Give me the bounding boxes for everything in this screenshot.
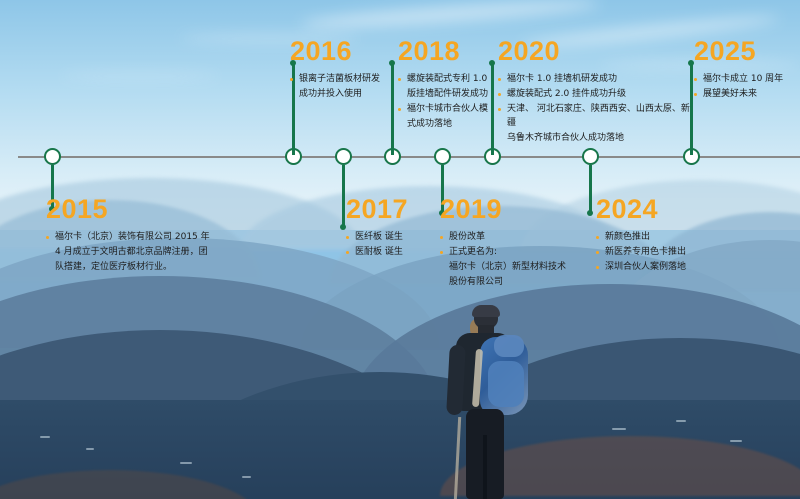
bullet-item: 成功并投入使用: [290, 87, 400, 101]
bullet-list-2017: 医纤板 诞生医耐板 诞生: [346, 230, 446, 259]
bullet-item: 新医养专用色卡推出: [596, 245, 736, 259]
timeline-node-2015[interactable]: [44, 148, 61, 165]
timeline-item-2018[interactable]: 2018螺旋装配式专利 1.0版挂墙配件研发成功福尔卡城市合伙人模式成功落地: [398, 38, 502, 132]
bullet-item: 股份改革: [440, 230, 590, 244]
terrain-detail: [612, 428, 626, 430]
bullet-item: 福尔卡（北京）新型材料技术: [440, 260, 590, 274]
bullet-item: 医耐板 诞生: [346, 245, 446, 259]
year-label-2016: 2016: [290, 38, 400, 65]
bullet-list-2020: 福尔卡 1.0 挂墙机研发成功螺旋装配式 2.0 挂件成功升级天津、 河北石家庄…: [498, 72, 698, 145]
bullet-item: 式成功落地: [398, 117, 502, 131]
timeline-item-2020[interactable]: 2020福尔卡 1.0 挂墙机研发成功螺旋装配式 2.0 挂件成功升级天津、 河…: [498, 38, 698, 146]
bullet-item: 福尔卡（北京）装饰有限公司 2015 年: [46, 230, 231, 244]
timeline-item-2017[interactable]: 2017医纤板 诞生医耐板 诞生: [346, 196, 446, 260]
bullet-item: 乌鲁木齐城市合伙人成功落地: [498, 131, 698, 145]
year-label-2015: 2015: [46, 196, 231, 223]
bullet-list-2025: 福尔卡成立 10 周年展望美好未来: [694, 72, 800, 101]
year-label-2017: 2017: [346, 196, 446, 223]
bullet-item: 银离子洁菌板材研发: [290, 72, 400, 86]
backpack-body: [488, 361, 524, 407]
timeline-stem-2025: [690, 63, 693, 155]
bullet-item: 深圳合伙人案例落地: [596, 260, 736, 274]
hiker-leg-gap: [483, 435, 487, 499]
bullet-item: 福尔卡成立 10 周年: [694, 72, 800, 86]
timeline-item-2025[interactable]: 2025福尔卡成立 10 周年展望美好未来: [694, 38, 800, 102]
bullet-item: 正式更名为:: [440, 245, 590, 259]
terrain-detail: [676, 420, 686, 422]
bullet-item: 展望美好未来: [694, 87, 800, 101]
bullet-list-2019: 股份改革正式更名为:福尔卡（北京）新型材料技术股份有限公司: [440, 230, 590, 289]
year-label-2019: 2019: [440, 196, 590, 223]
timeline-item-2024[interactable]: 2024新颜色推出新医养专用色卡推出深圳合伙人案例落地: [596, 196, 736, 275]
timeline-stem-2018: [391, 63, 394, 155]
bullet-list-2015: 福尔卡（北京）装饰有限公司 2015 年4 月成立于文明古都北京品牌注册，团队搭…: [46, 230, 231, 274]
timeline-stem-2020: [491, 63, 494, 155]
bullet-item: 4 月成立于文明古都北京品牌注册，团: [46, 245, 231, 259]
hiker-cap: [472, 305, 500, 317]
terrain-detail: [730, 440, 742, 442]
trekking-pole: [454, 417, 461, 499]
hiker-figure: [432, 305, 552, 499]
bullet-item: 福尔卡城市合伙人模: [398, 102, 502, 116]
timeline-node-2019[interactable]: [434, 148, 451, 165]
bullet-list-2024: 新颜色推出新医养专用色卡推出深圳合伙人案例落地: [596, 230, 736, 274]
bullet-item: 版挂墙配件研发成功: [398, 87, 502, 101]
bullet-item: 医纤板 诞生: [346, 230, 446, 244]
cloud: [60, 72, 220, 80]
timeline-item-2019[interactable]: 2019股份改革正式更名为:福尔卡（北京）新型材料技术股份有限公司: [440, 196, 590, 290]
terrain-detail: [86, 448, 94, 450]
timeline-item-2016[interactable]: 2016银离子洁菌板材研发成功并投入使用: [290, 38, 400, 102]
bullet-item: 螺旋装配式专利 1.0: [398, 72, 502, 86]
bullet-item: 螺旋装配式 2.0 挂件成功升级: [498, 87, 698, 101]
timeline-infographic: 2015福尔卡（北京）装饰有限公司 2015 年4 月成立于文明古都北京品牌注册…: [0, 0, 800, 499]
timeline-node-2017[interactable]: [335, 148, 352, 165]
timeline-stem-2024: [589, 165, 592, 213]
year-label-2020: 2020: [498, 38, 698, 65]
terrain-detail: [180, 462, 192, 464]
bullet-list-2018: 螺旋装配式专利 1.0版挂墙配件研发成功福尔卡城市合伙人模式成功落地: [398, 72, 502, 131]
bullet-item: 新颜色推出: [596, 230, 736, 244]
terrain-detail: [242, 476, 251, 478]
year-label-2025: 2025: [694, 38, 800, 65]
timeline-node-2024[interactable]: [582, 148, 599, 165]
bullet-item: 天津、 河北石家庄、陕西西安、山西太原、新疆: [498, 102, 698, 130]
bullet-item: 股份有限公司: [440, 275, 590, 289]
backpack-top: [494, 335, 524, 357]
timeline-stem-2017: [342, 165, 345, 227]
bullet-item: 队搭建，定位医疗板材行业。: [46, 260, 231, 274]
bullet-item: 福尔卡 1.0 挂墙机研发成功: [498, 72, 698, 86]
bullet-list-2016: 银离子洁菌板材研发成功并投入使用: [290, 72, 400, 101]
year-label-2018: 2018: [398, 38, 502, 65]
timeline-item-2015[interactable]: 2015福尔卡（北京）装饰有限公司 2015 年4 月成立于文明古都北京品牌注册…: [46, 196, 231, 275]
terrain-detail: [40, 436, 50, 438]
year-label-2024: 2024: [596, 196, 736, 223]
